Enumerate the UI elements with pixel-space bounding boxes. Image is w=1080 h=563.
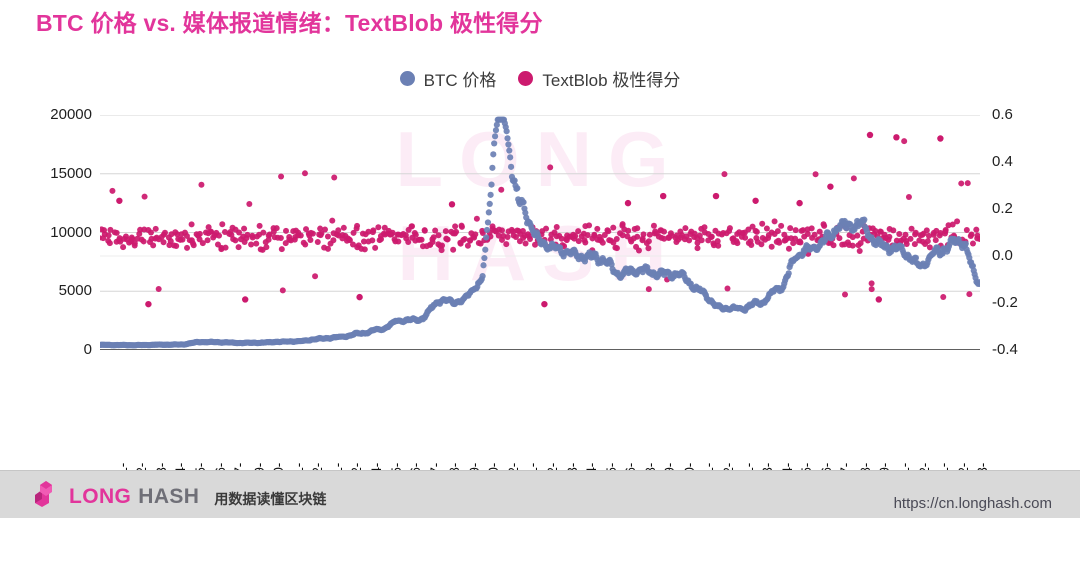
data-point-sentiment-outlier <box>893 134 899 140</box>
longhash-logo-icon <box>32 479 62 507</box>
data-point-sentiment <box>715 243 721 249</box>
data-point-sentiment <box>498 187 504 193</box>
data-point-sentiment <box>302 242 308 248</box>
data-point-sentiment-outlier <box>796 200 802 206</box>
data-point-sentiment <box>682 225 688 231</box>
data-point-sentiment <box>854 233 860 239</box>
data-point-sentiment <box>114 230 120 236</box>
data-point-sentiment <box>184 245 190 251</box>
chart-legend: BTC 价格 TextBlob 极性得分 <box>0 66 1080 91</box>
y-right-tick-label: 0.6 <box>992 106 1013 123</box>
data-point-sentiment <box>263 244 269 250</box>
data-point-sentiment <box>459 224 465 230</box>
page-title: BTC 价格 vs. 媒体报道情绪：TextBlob 极性得分 <box>36 4 543 38</box>
data-point-btc <box>480 262 486 268</box>
data-point-btc <box>486 209 492 215</box>
data-point-btc <box>512 177 518 183</box>
legend-label-sentiment: TextBlob 极性得分 <box>542 66 680 91</box>
data-point-sentiment <box>901 138 907 144</box>
data-point-btc <box>481 255 487 261</box>
data-point-sentiment <box>109 188 115 194</box>
data-point-sentiment <box>156 286 162 292</box>
data-point-sentiment <box>260 230 266 236</box>
data-point-sentiment <box>640 236 646 242</box>
scatter-plot-svg <box>100 115 980 350</box>
footer-url-link[interactable]: https://cn.longhash.com <box>894 495 1052 512</box>
data-point-sentiment <box>191 242 197 248</box>
data-point-sentiment <box>280 287 286 293</box>
data-point-sentiment-outlier <box>625 200 631 206</box>
data-point-sentiment <box>850 243 856 249</box>
data-point-sentiment <box>645 245 651 251</box>
data-point-btc <box>786 270 792 276</box>
data-point-sentiment <box>219 221 225 227</box>
y-right-tick-label: -0.2 <box>992 294 1018 311</box>
data-point-sentiment <box>283 228 289 234</box>
data-point-btc <box>484 227 490 233</box>
data-point-sentiment <box>236 244 242 250</box>
data-point-sentiment <box>499 227 505 233</box>
data-point-btc <box>488 192 494 198</box>
data-point-sentiment <box>547 164 553 170</box>
data-point-sentiment <box>686 237 692 243</box>
data-point-sentiment <box>274 225 280 231</box>
legend-item-btc[interactable]: BTC 价格 <box>400 66 497 91</box>
data-point-sentiment <box>278 174 284 180</box>
data-point-sentiment <box>778 223 784 229</box>
data-point-btc <box>483 234 489 240</box>
data-point-btc <box>480 273 486 279</box>
data-point-sentiment <box>241 226 247 232</box>
page-footer: LONG HASH 用数据读懂区块链 https://cn.longhash.c… <box>0 470 1080 518</box>
data-point-sentiment <box>161 239 167 245</box>
legend-label-btc: BTC 价格 <box>424 66 497 91</box>
data-point-sentiment <box>413 232 419 238</box>
data-point-sentiment <box>362 246 368 252</box>
data-point-sentiment <box>173 243 179 249</box>
data-point-btc <box>913 255 919 261</box>
data-point-sentiment <box>450 247 456 253</box>
data-point-sentiment-outlier <box>660 193 666 199</box>
data-point-sentiment <box>620 221 626 227</box>
data-point-sentiment <box>223 245 229 251</box>
data-point-btc <box>505 141 511 147</box>
data-point-sentiment <box>869 280 875 286</box>
data-point-sentiment <box>331 175 337 181</box>
data-point-sentiment <box>474 216 480 222</box>
data-point-btc <box>491 140 497 146</box>
data-point-sentiment <box>769 244 775 250</box>
data-point-sentiment <box>842 291 848 297</box>
data-point-sentiment <box>120 244 126 250</box>
data-point-sentiment <box>600 240 606 246</box>
y-left-tick-label: 10000 <box>50 224 92 241</box>
data-point-sentiment <box>817 229 823 235</box>
data-point-sentiment <box>724 285 730 291</box>
plot-area: LONG HASH <box>100 115 980 350</box>
data-point-sentiment <box>764 226 770 232</box>
data-point-sentiment-outlier <box>145 301 151 307</box>
data-point-sentiment <box>908 236 914 242</box>
data-point-sentiment <box>445 236 451 242</box>
data-point-sentiment-outlier <box>752 198 758 204</box>
data-point-sentiment <box>452 223 458 229</box>
data-point-sentiment <box>695 245 701 251</box>
y-left-tick-label: 5000 <box>59 282 92 299</box>
legend-swatch-btc-icon <box>400 71 415 86</box>
data-point-sentiment <box>709 234 715 240</box>
data-point-sentiment <box>422 227 428 233</box>
data-point-sentiment-outlier <box>937 135 943 141</box>
data-point-sentiment <box>107 240 113 246</box>
data-point-sentiment <box>651 223 657 229</box>
data-point-sentiment <box>575 228 581 234</box>
data-point-sentiment <box>954 218 960 224</box>
data-point-sentiment <box>505 234 511 240</box>
data-point-sentiment <box>965 180 971 186</box>
data-point-sentiment <box>727 225 733 231</box>
data-point-sentiment-outlier <box>541 301 547 307</box>
brand-name-hash: HASH <box>138 486 199 507</box>
data-point-sentiment <box>523 241 529 247</box>
data-point-sentiment <box>775 228 781 234</box>
data-point-sentiment <box>610 225 616 231</box>
data-point-sentiment <box>325 246 331 252</box>
data-point-sentiment <box>189 221 195 227</box>
data-point-btc <box>504 128 510 134</box>
data-point-sentiment <box>330 237 336 243</box>
data-point-sentiment <box>614 236 620 242</box>
data-point-sentiment <box>831 242 837 248</box>
chart-area: LONG HASH 2016-01-2016-02-2016-03-2016-0… <box>0 100 1080 360</box>
y-right-tick-label: 0.4 <box>992 153 1013 170</box>
data-point-sentiment <box>646 238 652 244</box>
data-point-sentiment <box>370 229 376 235</box>
data-point-btc <box>488 182 494 188</box>
data-point-sentiment <box>136 231 142 237</box>
data-point-sentiment <box>257 223 263 229</box>
data-point-btc <box>492 133 498 139</box>
data-point-sentiment <box>661 229 667 235</box>
data-point-sentiment <box>793 227 799 233</box>
data-point-sentiment <box>903 232 909 238</box>
data-point-sentiment <box>754 229 760 235</box>
data-point-sentiment <box>307 237 313 243</box>
data-point-btc <box>485 219 491 225</box>
y-right-tick-label: -0.4 <box>992 341 1018 358</box>
data-point-sentiment <box>869 286 875 292</box>
legend-item-sentiment[interactable]: TextBlob 极性得分 <box>518 66 680 91</box>
data-point-sentiment <box>885 237 891 243</box>
data-point-sentiment <box>625 228 631 234</box>
data-point-sentiment <box>925 238 931 244</box>
data-point-sentiment <box>776 240 782 246</box>
data-point-sentiment <box>142 194 148 200</box>
data-point-sentiment <box>634 234 640 240</box>
data-point-sentiment <box>787 225 793 231</box>
data-point-sentiment <box>857 248 863 254</box>
y-right-tick-label: 0.0 <box>992 247 1013 264</box>
data-point-sentiment <box>148 229 154 235</box>
data-point-sentiment <box>439 242 445 248</box>
data-point-sentiment-outlier <box>449 201 455 207</box>
data-point-sentiment <box>443 228 449 234</box>
data-point-sentiment <box>969 231 975 237</box>
data-point-sentiment <box>248 242 254 248</box>
y-left-tick-label: 15000 <box>50 165 92 182</box>
data-point-sentiment <box>933 237 939 243</box>
y-left-tick-label: 0 <box>84 341 92 358</box>
data-point-btc <box>489 165 495 171</box>
data-point-sentiment <box>106 232 112 238</box>
data-point-sentiment <box>964 227 970 233</box>
data-point-sentiment <box>325 234 331 240</box>
data-point-sentiment <box>721 171 727 177</box>
brand-logo[interactable]: LONG HASH 用数据读懂区块链 <box>32 479 326 507</box>
data-point-sentiment-outlier <box>356 294 362 300</box>
data-point-sentiment <box>436 232 442 238</box>
data-point-sentiment <box>748 242 754 248</box>
data-point-sentiment <box>890 227 896 233</box>
y-right-tick-label: 0.2 <box>992 200 1013 217</box>
gridlines <box>100 115 980 291</box>
data-point-sentiment <box>472 231 478 237</box>
data-point-sentiment <box>150 242 156 248</box>
data-point-sentiment <box>198 182 204 188</box>
data-point-sentiment <box>646 286 652 292</box>
data-point-sentiment <box>266 237 272 243</box>
data-point-sentiment <box>958 180 964 186</box>
data-point-sentiment <box>141 238 147 244</box>
data-point-sentiment <box>419 237 425 243</box>
data-point-sentiment <box>699 237 705 243</box>
data-point-sentiment <box>614 245 620 251</box>
data-point-sentiment <box>503 241 509 247</box>
chart-page: BTC 价格 vs. 媒体报道情绪：TextBlob 极性得分 BTC 价格 T… <box>0 0 1080 517</box>
data-point-sentiment-outlier <box>242 296 248 302</box>
data-point-sentiment <box>253 241 259 247</box>
data-point-sentiment <box>813 171 819 177</box>
data-point-sentiment <box>409 223 415 229</box>
data-point-sentiment <box>243 235 249 241</box>
data-point-sentiment <box>395 239 401 245</box>
data-point-sentiment <box>312 273 318 279</box>
data-point-sentiment-outlier <box>827 183 833 189</box>
data-point-btc <box>507 154 513 160</box>
data-point-btc <box>482 247 488 253</box>
data-point-sentiment <box>329 218 335 224</box>
data-point-sentiment <box>462 236 468 242</box>
data-point-sentiment <box>742 235 748 241</box>
data-point-sentiment <box>924 227 930 233</box>
data-point-sentiment-outlier <box>116 198 122 204</box>
data-point-sentiment <box>298 232 304 238</box>
data-point-sentiment <box>216 233 222 239</box>
data-point-sentiment <box>772 218 778 224</box>
data-point-sentiment <box>354 223 360 229</box>
data-point-btc <box>508 164 514 170</box>
data-point-sentiment <box>369 237 375 243</box>
legend-swatch-sentiment-icon <box>518 71 533 86</box>
data-point-sentiment <box>759 221 765 227</box>
brand-tagline: 用数据读懂区块链 <box>214 492 326 507</box>
data-point-sentiment <box>734 240 740 246</box>
data-point-sentiment <box>586 222 592 228</box>
data-point-sentiment <box>375 224 381 230</box>
data-point-btc <box>520 199 526 205</box>
data-point-sentiment <box>543 226 549 232</box>
data-point-sentiment <box>786 246 792 252</box>
data-point-sentiment <box>554 224 560 230</box>
data-point-btc <box>506 147 512 153</box>
data-point-sentiment <box>232 237 238 243</box>
data-point-sentiment <box>132 242 138 248</box>
series-points-sentiment <box>100 132 980 308</box>
data-point-sentiment-outlier <box>876 296 882 302</box>
data-point-sentiment <box>906 194 912 200</box>
data-point-sentiment <box>821 223 827 229</box>
data-point-sentiment <box>634 225 640 231</box>
data-point-btc <box>490 151 496 157</box>
data-point-btc <box>963 241 969 247</box>
data-point-btc <box>514 185 520 191</box>
y-left-tick-label: 20000 <box>50 106 92 123</box>
data-point-sentiment <box>372 245 378 251</box>
data-point-sentiment <box>197 231 203 237</box>
data-point-sentiment <box>310 231 316 237</box>
data-point-btc <box>861 217 867 223</box>
data-point-sentiment-outlier <box>713 193 719 199</box>
data-point-sentiment <box>246 201 252 207</box>
data-point-btc <box>504 135 510 141</box>
data-point-sentiment <box>322 227 328 233</box>
data-point-sentiment <box>594 226 600 232</box>
data-point-sentiment <box>153 226 159 232</box>
data-point-sentiment <box>205 237 211 243</box>
data-point-sentiment <box>896 231 902 237</box>
data-point-sentiment <box>302 170 308 176</box>
data-point-sentiment <box>605 228 611 234</box>
data-point-sentiment <box>809 225 815 231</box>
data-point-sentiment <box>335 227 341 233</box>
data-point-sentiment <box>701 224 707 230</box>
data-point-sentiment-outlier <box>867 132 873 138</box>
data-point-sentiment <box>636 248 642 254</box>
data-point-btc <box>493 127 499 133</box>
data-point-btc <box>487 201 493 207</box>
brand-name-long: LONG <box>69 486 131 507</box>
data-point-sentiment <box>851 175 857 181</box>
data-point-sentiment <box>453 229 459 235</box>
data-point-sentiment <box>582 240 588 246</box>
data-point-sentiment <box>812 232 818 238</box>
data-point-sentiment <box>278 235 284 241</box>
data-point-sentiment <box>162 230 168 236</box>
data-point-sentiment <box>836 235 842 241</box>
data-point-sentiment <box>797 240 803 246</box>
data-point-sentiment <box>279 246 285 252</box>
data-point-sentiment <box>970 240 976 246</box>
data-point-sentiment <box>940 294 946 300</box>
data-point-sentiment <box>315 239 321 245</box>
data-point-sentiment <box>973 227 979 233</box>
data-point-sentiment <box>341 225 347 231</box>
data-point-sentiment <box>966 291 972 297</box>
